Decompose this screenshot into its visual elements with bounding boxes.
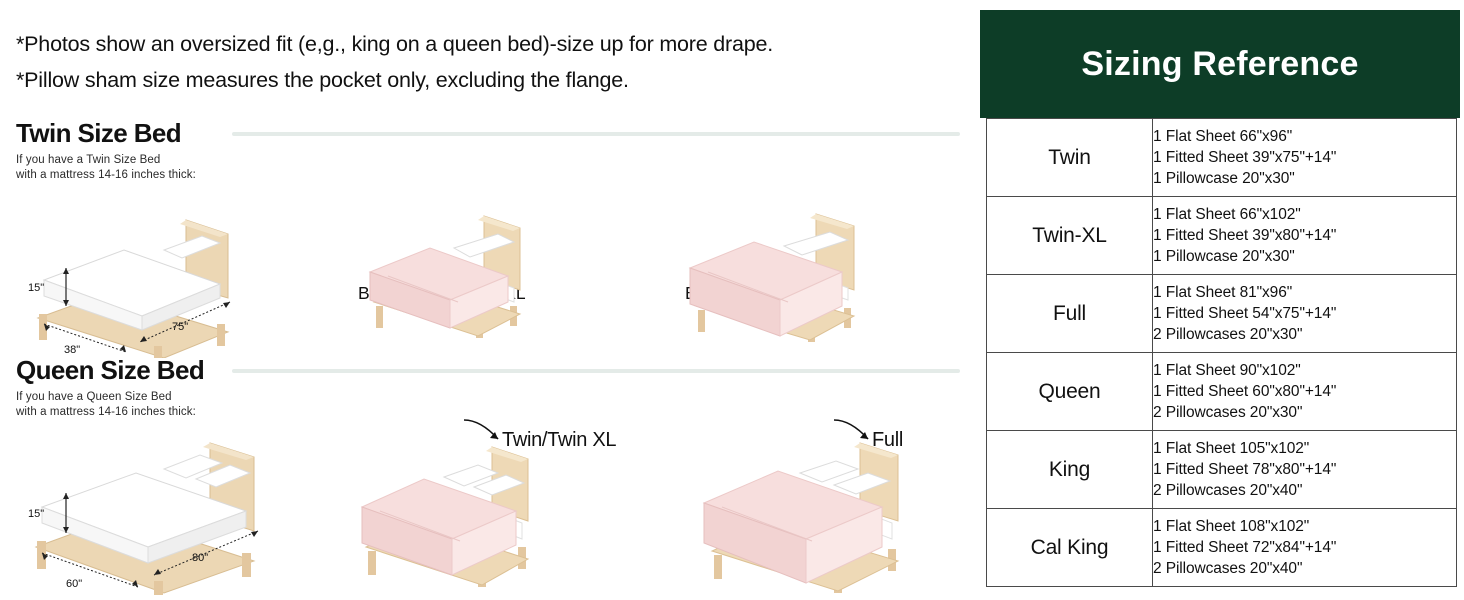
size-contents: 1 Flat Sheet 66"x96" 1 Fitted Sheet 39"x… (1153, 119, 1457, 197)
section-twin-subtitle-line1: If you have a Twin Size Bed (16, 153, 196, 168)
table-body: Twin 1 Flat Sheet 66"x96" 1 Fitted Sheet… (987, 119, 1457, 587)
section-queen-divider (232, 369, 960, 373)
section-queen-heading: Queen Size Bed If you have a Queen Size … (16, 355, 204, 419)
content-line: 1 Fitted Sheet 60"x80"+14" (1153, 381, 1456, 402)
section-queen: Queen Size Bed If you have a Queen Size … (0, 355, 968, 600)
content-line: 2 Pillowcases 20"x40" (1153, 558, 1456, 579)
content-line: 1 Fitted Sheet 72"x84"+14" (1153, 537, 1456, 558)
content-line: 1 Flat Sheet 81"x96" (1153, 282, 1456, 303)
size-contents: 1 Flat Sheet 66"x102" 1 Fitted Sheet 39"… (1153, 197, 1457, 275)
table-row: King 1 Flat Sheet 105"x102" 1 Fitted She… (987, 431, 1457, 509)
queen-better-drape-bed-illustration (700, 441, 930, 597)
size-label: Twin-XL (987, 197, 1153, 275)
twin-better-drape-bed-illustration (684, 210, 874, 346)
content-line: 2 Pillowcases 20"x30" (1153, 324, 1456, 345)
table-title: Sizing Reference (1081, 45, 1358, 84)
section-twin: Twin Size Bed If you have a Twin Size Be… (0, 118, 968, 358)
queen-bed-white-illustration: 15" 60" 80" (14, 435, 276, 597)
twin-bed-white-illustration: 15" 38" 75" (14, 206, 244, 358)
twin-length-dimension: 75" (172, 321, 188, 333)
content-line: 1 Flat Sheet 105"x102" (1153, 438, 1456, 459)
size-contents: 1 Flat Sheet 90"x102" 1 Fitted Sheet 60"… (1153, 353, 1457, 431)
table-row: Cal King 1 Flat Sheet 108"x102" 1 Fitted… (987, 509, 1457, 587)
section-twin-divider (232, 132, 960, 136)
section-twin-subtitle: If you have a Twin Size Bed with a mattr… (16, 153, 196, 182)
content-line: 1 Fitted Sheet 39"x80"+14" (1153, 225, 1456, 246)
section-twin-subtitle-line2: with a mattress 14-16 inches thick: (16, 168, 196, 183)
content-line: 1 Flat Sheet 108"x102" (1153, 516, 1456, 537)
table-row: Queen 1 Flat Sheet 90"x102" 1 Fitted She… (987, 353, 1457, 431)
content-line: 2 Pillowcases 20"x30" (1153, 402, 1456, 423)
queen-length-dimension: 80" (192, 552, 208, 564)
section-twin-title: Twin Size Bed (16, 118, 196, 149)
twin-height-dimension: 15" (28, 282, 44, 294)
table-row: Full 1 Flat Sheet 81"x96" 1 Fitted Sheet… (987, 275, 1457, 353)
content-line: 1 Flat Sheet 90"x102" (1153, 360, 1456, 381)
section-queen-subtitle: If you have a Queen Size Bed with a matt… (16, 390, 204, 419)
section-twin-heading: Twin Size Bed If you have a Twin Size Be… (16, 118, 196, 182)
note-line-1: *Photos show an oversized fit (e,g., kin… (16, 26, 956, 62)
size-label: King (987, 431, 1153, 509)
queen-height-dimension: 15" (28, 508, 44, 520)
disclaimer-notes: *Photos show an oversized fit (e,g., kin… (16, 26, 956, 98)
sizing-reference-table: Sizing Reference Twin 1 Flat Sheet 66"x9… (980, 10, 1460, 590)
section-queen-subtitle-line2: with a mattress 14-16 inches thick: (16, 405, 204, 420)
content-line: 1 Fitted Sheet 78"x80"+14" (1153, 459, 1456, 480)
content-line: 1 Fitted Sheet 54"x75"+14" (1153, 303, 1456, 324)
content-line: 1 Pillowcase 20"x30" (1153, 168, 1456, 189)
twin-best-fit-bed-illustration (358, 210, 538, 342)
table-row: Twin-XL 1 Flat Sheet 66"x102" 1 Fitted S… (987, 197, 1457, 275)
queen-width-dimension: 60" (66, 578, 82, 590)
size-contents: 1 Flat Sheet 81"x96" 1 Fitted Sheet 54"x… (1153, 275, 1457, 353)
sizing-reference-graphic: *Photos show an oversized fit (e,g., kin… (0, 0, 1464, 600)
size-label: Twin (987, 119, 1153, 197)
content-line: 1 Flat Sheet 66"x102" (1153, 204, 1456, 225)
size-contents: 1 Flat Sheet 108"x102" 1 Fitted Sheet 72… (1153, 509, 1457, 587)
table-header-banner: Sizing Reference (980, 10, 1460, 118)
content-line: 1 Pillowcase 20"x30" (1153, 246, 1456, 267)
content-line: 1 Flat Sheet 66"x96" (1153, 126, 1456, 147)
section-queen-subtitle-line1: If you have a Queen Size Bed (16, 390, 204, 405)
size-label: Full (987, 275, 1153, 353)
content-line: 2 Pillowcases 20"x40" (1153, 480, 1456, 501)
content-line: 1 Fitted Sheet 39"x75"+14" (1153, 147, 1456, 168)
table-row: Twin 1 Flat Sheet 66"x96" 1 Fitted Sheet… (987, 119, 1457, 197)
size-contents: 1 Flat Sheet 105"x102" 1 Fitted Sheet 78… (1153, 431, 1457, 509)
queen-best-fit-bed-illustration (352, 443, 552, 591)
size-label: Cal King (987, 509, 1153, 587)
section-queen-title: Queen Size Bed (16, 355, 204, 386)
note-line-2: *Pillow sham size measures the pocket on… (16, 62, 956, 98)
size-label: Queen (987, 353, 1153, 431)
illustration-panel: *Photos show an oversized fit (e,g., kin… (0, 0, 968, 600)
